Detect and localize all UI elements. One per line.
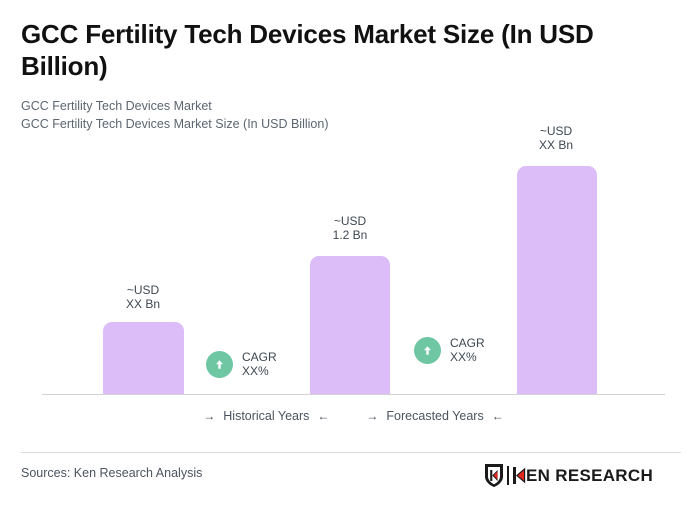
bar-current: [310, 256, 390, 394]
bar-value-label-3: ~USD XX Bn: [496, 124, 616, 152]
cagr-label-forecast: CAGR: [450, 336, 485, 350]
bar-historical: [103, 322, 184, 394]
axis-baseline: [42, 394, 665, 395]
bar-value-label-2: ~USD 1.2 Bn: [290, 214, 410, 242]
logo-text: EN RESEARCH: [526, 467, 653, 484]
cagr-label-historical: CAGR: [242, 350, 277, 364]
logo-wordmark: EN RESEARCH: [513, 467, 653, 484]
bar-value-label-1-line1: ~USD: [83, 283, 203, 297]
axis-period-labels: → Historical Years ← → Forecasted Years …: [42, 409, 665, 423]
bar-value-label-3-line2: XX Bn: [496, 138, 616, 152]
arrow-up-icon: [414, 337, 441, 364]
bar-value-label-2-line1: ~USD: [290, 214, 410, 228]
footer-divider: [21, 452, 681, 453]
cagr-text-historical: CAGR XX%: [242, 350, 277, 378]
bar-value-label-2-line2: 1.2 Bn: [290, 228, 410, 242]
bar-value-label-1-line2: XX Bn: [83, 297, 203, 311]
sources-text: Sources: Ken Research Analysis: [21, 466, 202, 480]
bar-forecast: [517, 166, 597, 394]
arrow-up-icon: [206, 351, 233, 378]
logo-k-glyph-icon: [513, 467, 526, 484]
arrow-left-icon: ←: [317, 410, 329, 422]
shield-logo-icon: [484, 463, 504, 488]
cagr-badge-historical: CAGR XX%: [206, 350, 277, 378]
cagr-badge-forecast: CAGR XX%: [414, 336, 485, 364]
bar-value-label-1: ~USD XX Bn: [83, 283, 203, 311]
cagr-value-forecast: XX%: [450, 350, 477, 364]
period-forecasted-years-label: Forecasted Years: [386, 409, 483, 423]
cagr-value-historical: XX%: [242, 364, 269, 378]
logo-divider: [507, 466, 509, 485]
chart-plot-area: ~USD XX Bn ~USD 1.2 Bn ~USD XX Bn CAGR: [0, 0, 700, 520]
cagr-text-forecast: CAGR XX%: [450, 336, 485, 364]
period-historical-years-label: Historical Years: [223, 409, 309, 423]
period-historical-years: → Historical Years ←: [203, 409, 329, 423]
ken-research-logo: EN RESEARCH: [484, 462, 653, 488]
chart-infographic: GCC Fertility Tech Devices Market Size (…: [0, 0, 700, 520]
period-forecasted-years: → Forecasted Years ←: [366, 409, 503, 423]
arrow-right-icon: →: [366, 410, 378, 422]
arrow-right-icon: →: [203, 410, 215, 422]
arrow-left-icon: ←: [492, 410, 504, 422]
bar-value-label-3-line1: ~USD: [496, 124, 616, 138]
